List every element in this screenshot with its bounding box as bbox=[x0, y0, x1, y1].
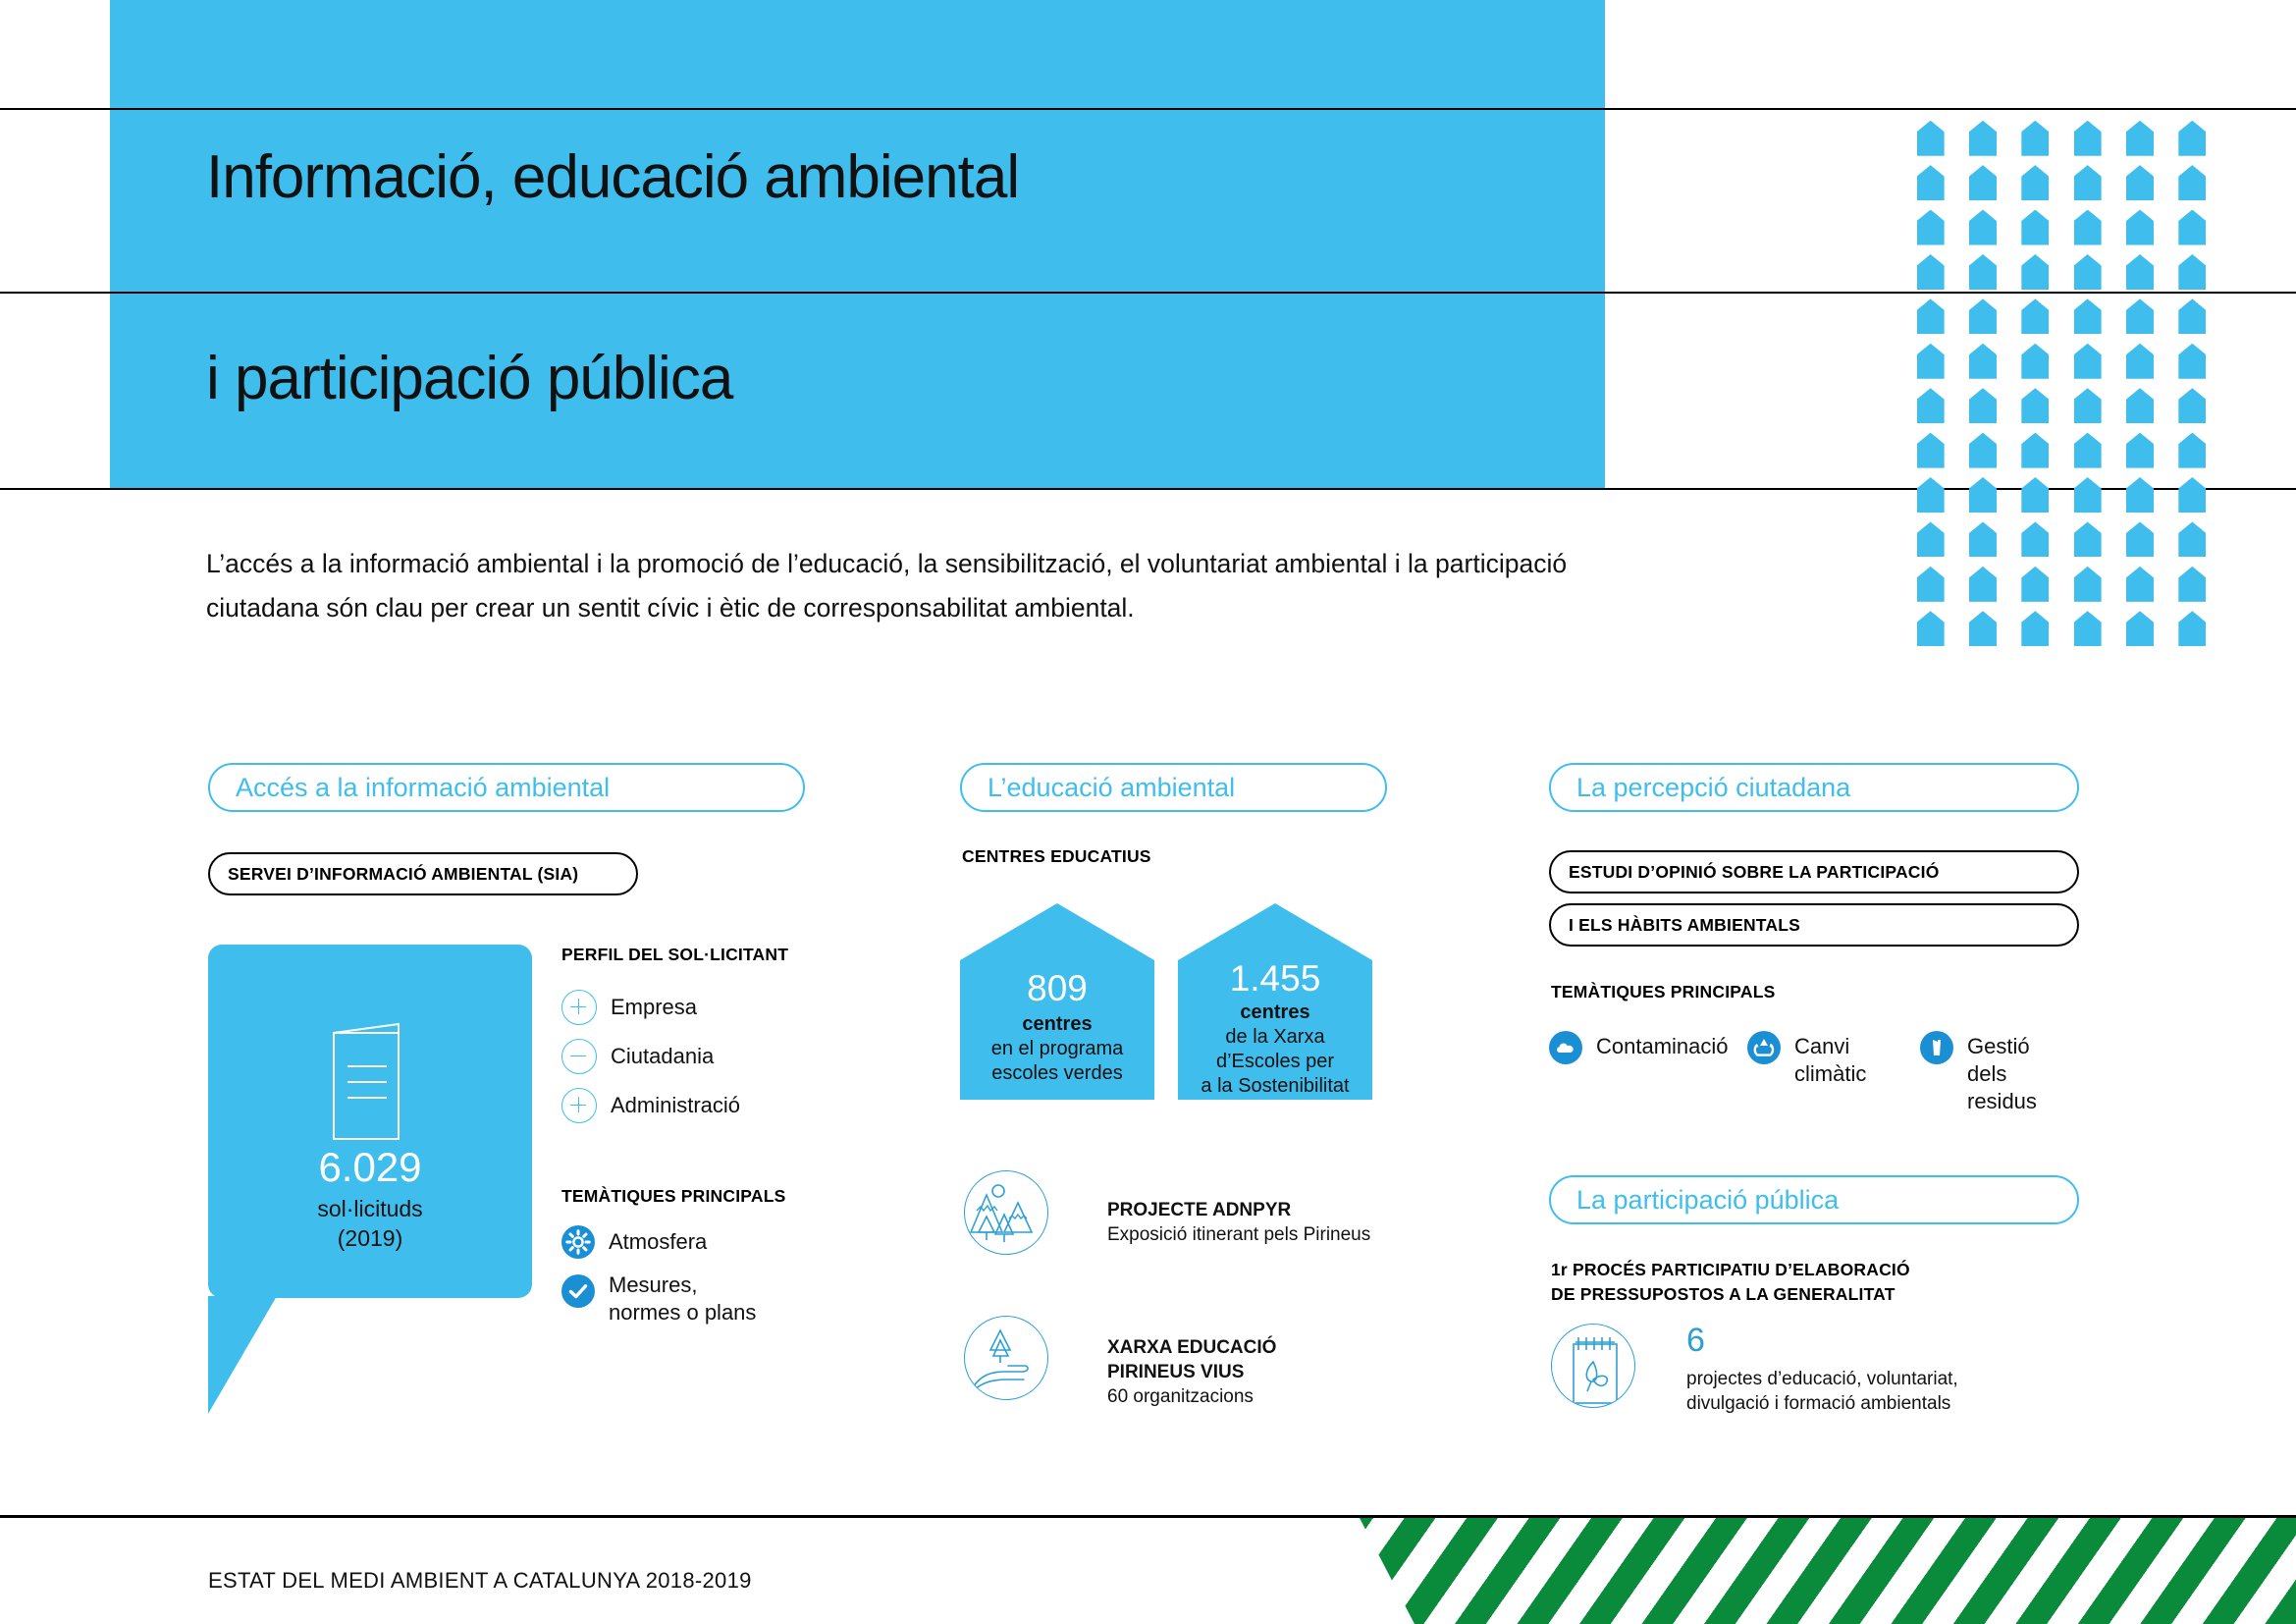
house-stat-escoles-verdes: 809 centres en el programa escoles verde… bbox=[960, 903, 1154, 1100]
house-text-line1: de la Xarxa bbox=[1178, 1025, 1372, 1050]
footer-rule-line bbox=[0, 1515, 2296, 1518]
caption-title-line1: XARXA EDUCACIÓ bbox=[1107, 1335, 1276, 1360]
house-shape-icon bbox=[1917, 433, 1945, 468]
section-title-percepcio-ciutadana: La percepció ciutadana bbox=[1549, 763, 2079, 812]
notepad-leaf-icon bbox=[1551, 1324, 1635, 1408]
house-shape-icon bbox=[1917, 477, 1945, 513]
list-item-label: Empresa bbox=[611, 994, 697, 1021]
house-shape-icon bbox=[2126, 121, 2154, 156]
house-shape-icon bbox=[2126, 433, 2154, 468]
mountains-trees-icon bbox=[964, 1170, 1048, 1255]
badge-label: SERVEI D’INFORMACIÓ AMBIENTAL (SIA) bbox=[228, 864, 578, 885]
list-item-empresa: Empresa bbox=[561, 990, 697, 1025]
house-text-line2: escoles verdes bbox=[960, 1061, 1154, 1086]
house-shape-icon bbox=[1969, 388, 1997, 423]
house-shape-icon bbox=[1969, 254, 1997, 290]
caption-title-line2: PIRINEUS VIUS bbox=[1107, 1360, 1276, 1384]
house-shape-icon bbox=[1917, 298, 1945, 334]
list-item-label: Ciutadania bbox=[611, 1043, 714, 1070]
recycle-icon bbox=[1747, 1031, 1781, 1064]
hand-tree-icon bbox=[964, 1316, 1048, 1400]
caption-projecte-adnpyr: PROJECTE ADNPYR Exposició itinerant pels… bbox=[1107, 1198, 1370, 1247]
house-shape-icon bbox=[2126, 521, 2154, 557]
sia-unit-label: sol·licituds bbox=[208, 1194, 532, 1223]
stat-number: 6 bbox=[1686, 1324, 1958, 1357]
topic-label-block: Mesures, normes o plans bbox=[609, 1272, 756, 1326]
topic-label-line3: residus bbox=[1967, 1088, 2037, 1115]
stat-projectes-participatius: 6 projectes d’educació, voluntariat, div… bbox=[1686, 1324, 1958, 1416]
section-title-acces-informacio: Accés a la informació ambiental bbox=[208, 763, 805, 812]
topic-contaminacio: Contaminació bbox=[1549, 1031, 1729, 1064]
centres-educatius-heading: CENTRES EDUCATIUS bbox=[962, 846, 1151, 867]
house-number: 1.455 bbox=[1178, 960, 1372, 997]
header-blue-block bbox=[110, 0, 1605, 488]
house-shape-icon bbox=[2074, 433, 2102, 468]
house-shape-icon bbox=[2126, 611, 2154, 646]
trash-icon bbox=[1920, 1031, 1953, 1064]
section-title-label: La percepció ciutadana bbox=[1576, 773, 1850, 803]
house-shape-icon bbox=[2021, 210, 2049, 245]
house-shape-icon bbox=[2021, 121, 2049, 156]
house-shape-icon bbox=[2126, 477, 2154, 513]
topic-label-line1: Canvi bbox=[1794, 1033, 1866, 1060]
topic-label-line1: Contaminació bbox=[1596, 1033, 1729, 1060]
list-item-label: Administració bbox=[611, 1092, 740, 1119]
house-shape-icon bbox=[2074, 388, 2102, 423]
house-shape-icon bbox=[1969, 344, 1997, 379]
house-shape-icon bbox=[2074, 210, 2102, 245]
house-shape-icon bbox=[2126, 210, 2154, 245]
house-shape-icon bbox=[2021, 521, 2049, 557]
house-shape-icon bbox=[1917, 165, 1945, 200]
house-shape-icon bbox=[2074, 165, 2102, 200]
house-shape-icon bbox=[2074, 121, 2102, 156]
house-shape-icon bbox=[2021, 567, 2049, 602]
house-shape-icon bbox=[2021, 344, 2049, 379]
house-bold-label: centres bbox=[960, 1012, 1154, 1037]
badge-estudi-opinio-line1: ESTUDI D’OPINIÓ SOBRE LA PARTICIPACIÓ bbox=[1549, 850, 2079, 893]
house-shape-icon bbox=[1969, 121, 1997, 156]
section-title-label: Accés a la informació ambiental bbox=[236, 773, 610, 803]
house-shape-icon bbox=[1917, 388, 1945, 423]
house-shape-icon bbox=[1969, 165, 1997, 200]
plus-circle-icon bbox=[561, 1088, 597, 1123]
house-shape-icon bbox=[2126, 344, 2154, 379]
plus-circle-icon bbox=[561, 990, 597, 1025]
house-shape-icon bbox=[1969, 611, 1997, 646]
house-shape-icon bbox=[2126, 254, 2154, 290]
house-shape-icon bbox=[2126, 388, 2154, 423]
house-shape-icon bbox=[2021, 388, 2049, 423]
topic-label-line2: normes o plans bbox=[609, 1299, 756, 1326]
house-shape-icon bbox=[2126, 165, 2154, 200]
cloud-icon bbox=[1549, 1031, 1582, 1064]
house-shape-icon bbox=[2178, 254, 2206, 290]
house-shape-icon bbox=[1969, 477, 1997, 513]
list-item-ciutadania: Ciutadania bbox=[561, 1039, 714, 1074]
stat-line2: divulgació i formació ambientals bbox=[1686, 1391, 1958, 1416]
rule-line-top bbox=[0, 108, 2296, 110]
sia-request-count: 6.029 bbox=[208, 1147, 532, 1188]
house-pattern-decoration bbox=[1904, 116, 2218, 651]
section-title-educacio-ambiental: L’educació ambiental bbox=[960, 763, 1387, 812]
tematiques-heading-col3: TEMÀTIQUES PRINCIPALS bbox=[1551, 982, 1775, 1002]
house-shape-icon bbox=[2074, 477, 2102, 513]
intro-paragraph: L’accés a la informació ambiental i la p… bbox=[206, 542, 1610, 630]
house-shape-icon bbox=[2178, 165, 2206, 200]
section-title-participacio-publica: La participació pública bbox=[1549, 1175, 2079, 1224]
proces-participatiu-heading-line2: DE PRESSUPOSTOS A LA GENERALITAT bbox=[1551, 1284, 1896, 1305]
topic-label-block: Contaminació bbox=[1596, 1033, 1729, 1060]
house-shape-icon bbox=[2178, 433, 2206, 468]
house-text-line2: d’Escoles per bbox=[1178, 1050, 1372, 1074]
house-shape-icon bbox=[2178, 298, 2206, 334]
caption-line: Exposició itinerant pels Pirineus bbox=[1107, 1222, 1370, 1247]
house-shape-icon bbox=[2178, 521, 2206, 557]
house-shape-icon bbox=[2074, 521, 2102, 557]
stat-line1: projectes d’educació, voluntariat, bbox=[1686, 1367, 1958, 1391]
topic-label: Atmosfera bbox=[609, 1228, 707, 1256]
house-shape-icon bbox=[1969, 433, 1997, 468]
topic-mesures: Mesures, normes o plans bbox=[561, 1274, 756, 1326]
section-title-label: La participació pública bbox=[1576, 1185, 1839, 1216]
topic-label-line2: dels bbox=[1967, 1060, 2037, 1088]
topic-canvi-climatic: Canvi climàtic bbox=[1747, 1031, 1866, 1088]
house-shape-icon bbox=[2021, 433, 2049, 468]
house-shape-icon bbox=[1969, 567, 1997, 602]
house-shape-icon bbox=[2074, 254, 2102, 290]
house-shape-icon bbox=[2178, 388, 2206, 423]
page-title-line2: i participació pública bbox=[206, 349, 1580, 409]
topic-label-line1: Mesures, bbox=[609, 1272, 756, 1299]
house-shape-icon bbox=[2178, 121, 2206, 156]
house-shape-icon bbox=[1969, 298, 1997, 334]
house-shape-icon bbox=[2021, 611, 2049, 646]
badge-label: I ELS HÀBITS AMBIENTALS bbox=[1569, 915, 1800, 936]
green-stripes-decoration bbox=[1360, 1518, 2296, 1624]
house-text-line3: a la Sostenibilitat bbox=[1178, 1074, 1372, 1099]
house-shape-icon bbox=[2126, 567, 2154, 602]
house-number: 809 bbox=[960, 970, 1154, 1006]
house-shape-icon bbox=[2126, 298, 2154, 334]
topic-label-line2: climàtic bbox=[1794, 1060, 1866, 1088]
house-bold-label: centres bbox=[1178, 1001, 1372, 1025]
sia-year-label: (2019) bbox=[208, 1223, 532, 1253]
footer-label: ESTAT DEL MEDI AMBIENT A CATALUNYA 2018-… bbox=[208, 1568, 752, 1594]
house-shape-icon bbox=[2178, 477, 2206, 513]
topic-label-line1: Gestió bbox=[1967, 1033, 2037, 1060]
brochure-icon bbox=[322, 1021, 412, 1149]
house-shape-icon bbox=[1917, 121, 1945, 156]
house-stat-xarxa-escoles: 1.455 centres de la Xarxa d’Escoles per … bbox=[1178, 903, 1372, 1100]
topic-label-block: Gestió dels residus bbox=[1967, 1033, 2037, 1115]
topic-gestio-residus: Gestió dels residus bbox=[1920, 1031, 2037, 1115]
section-title-label: L’educació ambiental bbox=[988, 773, 1235, 803]
caption-line: 60 organitzacions bbox=[1107, 1384, 1276, 1409]
caption-xarxa-pirineus-vius: XARXA EDUCACIÓ PIRINEUS VIUS 60 organitz… bbox=[1107, 1335, 1276, 1409]
house-shape-icon bbox=[1969, 210, 1997, 245]
house-shape-icon bbox=[1917, 254, 1945, 290]
house-shape-icon bbox=[1969, 521, 1997, 557]
house-shape-icon bbox=[2178, 210, 2206, 245]
house-shape-icon bbox=[2021, 254, 2049, 290]
house-shape-icon bbox=[1917, 567, 1945, 602]
tematiques-heading-col1: TEMÀTIQUES PRINCIPALS bbox=[561, 1186, 785, 1207]
house-shape-icon bbox=[1917, 210, 1945, 245]
badge-estudi-opinio-line2: I ELS HÀBITS AMBIENTALS bbox=[1549, 903, 2079, 947]
house-shape-icon bbox=[2178, 611, 2206, 646]
house-shape-icon bbox=[2021, 165, 2049, 200]
sia-stat-bubble-tail bbox=[208, 1296, 277, 1414]
house-text-line1: en el programa bbox=[960, 1037, 1154, 1061]
house-shape-icon bbox=[2178, 344, 2206, 379]
atmosphere-icon bbox=[561, 1225, 595, 1259]
house-shape-icon bbox=[2074, 611, 2102, 646]
topic-atmosfera: Atmosfera bbox=[561, 1225, 707, 1259]
page-title-line1: Informació, educació ambiental bbox=[206, 147, 1580, 208]
badge-label: ESTUDI D’OPINIÓ SOBRE LA PARTICIPACIÓ bbox=[1569, 862, 1940, 883]
caption-title: PROJECTE ADNPYR bbox=[1107, 1198, 1370, 1222]
house-shape-icon bbox=[1917, 344, 1945, 379]
house-shape-icon bbox=[2074, 298, 2102, 334]
house-shape-icon bbox=[2074, 567, 2102, 602]
house-shape-icon bbox=[2074, 344, 2102, 379]
perfil-heading: PERFIL DEL SOL·LICITANT bbox=[561, 945, 788, 965]
house-shape-icon bbox=[1917, 611, 1945, 646]
house-shape-icon bbox=[2178, 567, 2206, 602]
house-shape-icon bbox=[2021, 298, 2049, 334]
check-icon bbox=[561, 1274, 595, 1308]
infographic-page: Informació, educació ambiental i partici… bbox=[0, 0, 2296, 1624]
minus-circle-icon bbox=[561, 1039, 597, 1074]
proces-participatiu-heading-line1: 1r PROCÉS PARTICIPATIU D’ELABORACIÓ bbox=[1551, 1260, 1910, 1280]
house-shape-icon bbox=[2021, 477, 2049, 513]
list-item-administracio: Administració bbox=[561, 1088, 740, 1123]
badge-servei-informacio-ambiental: SERVEI D’INFORMACIÓ AMBIENTAL (SIA) bbox=[208, 852, 638, 895]
sia-request-sub: sol·licituds (2019) bbox=[208, 1194, 532, 1253]
topic-label-block: Canvi climàtic bbox=[1794, 1033, 1866, 1088]
house-shape-icon bbox=[1917, 521, 1945, 557]
